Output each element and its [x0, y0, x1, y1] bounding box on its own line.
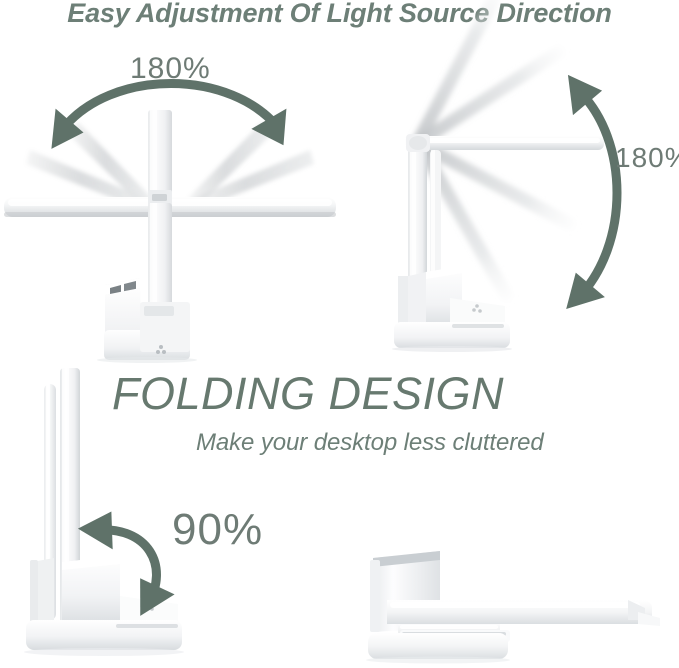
panel-bottom-left-label: 90% [172, 505, 263, 555]
lamp-arm [148, 110, 172, 333]
panel-top-right [340, 30, 679, 360]
page-title: Easy Adjustment Of Light Source Directio… [0, 0, 679, 29]
product-feature-graphic: Easy Adjustment Of Light Source Directio… [0, 0, 679, 668]
light-bar [414, 136, 604, 150]
lamp-base [366, 633, 510, 664]
panel-top-right-label: 180% [615, 142, 679, 174]
panel-top-left [0, 40, 340, 360]
rotation-arrow-180 [551, 65, 617, 323]
panel-top-left-label: 180% [130, 52, 211, 86]
light-bar-flat [387, 600, 660, 626]
panel-bottom-right [340, 520, 679, 668]
